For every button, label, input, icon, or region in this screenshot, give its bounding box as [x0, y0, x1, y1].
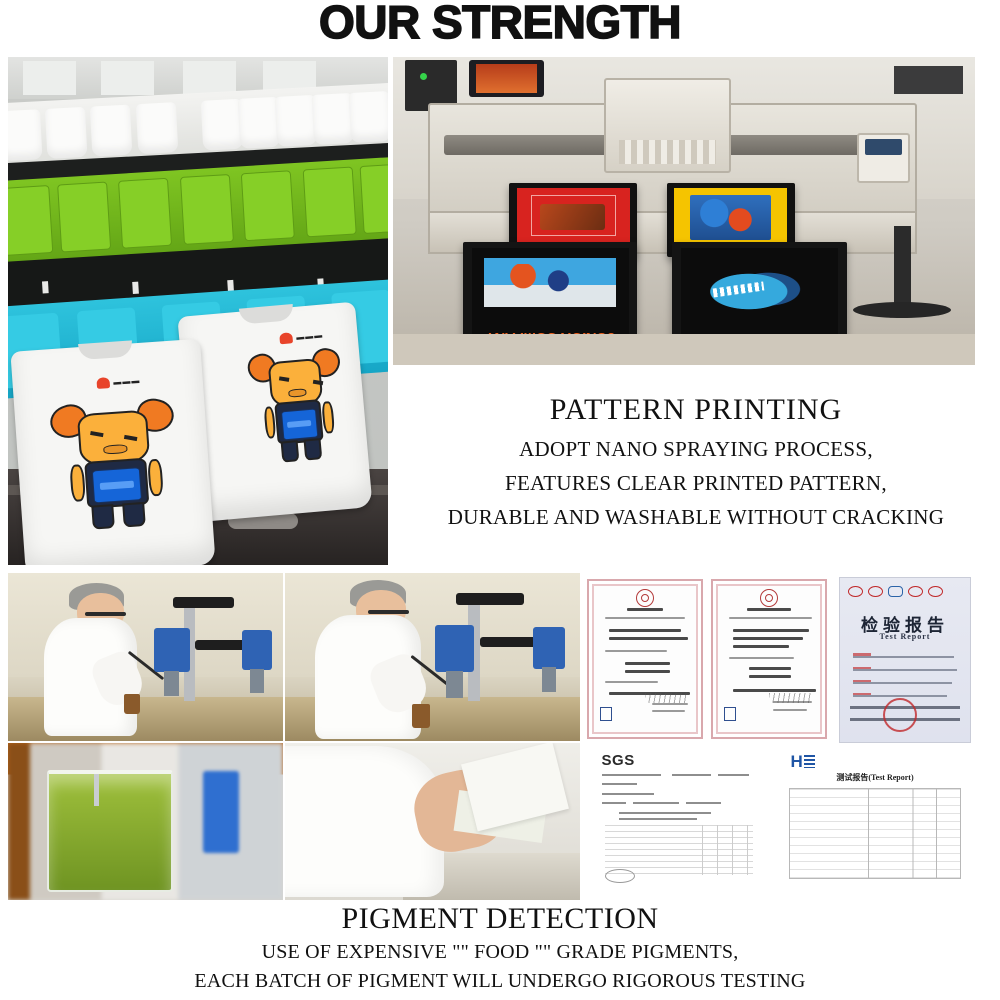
- ccc-logo-icon: [848, 586, 863, 597]
- sample-vial: [412, 704, 430, 728]
- certification-logos: [848, 586, 943, 597]
- lab-mixer: [242, 630, 272, 670]
- pigment-detection-heading: PIGMENT DETECTION: [0, 900, 1000, 938]
- certificate-iso-right: [711, 579, 827, 739]
- printer-room-floor: [393, 334, 975, 365]
- photo-lab-technician-right: [285, 573, 580, 741]
- pigment-detection-text-block: PIGMENT DETECTION USE OF EXPENSIVE "" FO…: [0, 900, 1000, 996]
- cqc-logo-icon: [868, 586, 883, 597]
- mixer-clamp: [173, 597, 234, 609]
- sgs-results-table: [605, 825, 753, 875]
- certificate-iso-left: [587, 579, 703, 739]
- photo-lab-technician-left: [8, 573, 283, 741]
- test-report-title-en: Test Report: [840, 632, 970, 641]
- printed-shirt-front: ▬▬▬: [10, 339, 215, 565]
- certificate-stamp-icon: [600, 707, 612, 721]
- lab-mixer: [533, 627, 565, 669]
- cnas-logo-icon: [928, 586, 943, 597]
- sgs-logo: SGS: [602, 752, 635, 769]
- mixer-clamp: [456, 593, 524, 605]
- h-report-results-table: [789, 788, 962, 879]
- wall-monitor: [469, 60, 545, 97]
- pattern-printing-line-2: FEATURES CLEAR PRINTED PATTERN,: [392, 466, 1000, 500]
- page-title: OUR STRENGTH: [0, 0, 1000, 46]
- pattern-printing-line-3: DURABLE AND WASHABLE WITHOUT CRACKING: [392, 500, 1000, 534]
- printer-stand: [894, 226, 911, 306]
- certificate-sgs-report: SGS: [591, 749, 767, 895]
- pigment-detection-line-2: EACH BATCH OF PIGMENT WILL UNDERGO RIGOR…: [0, 967, 1000, 996]
- photo-certificates-panel: 检验报告 Test Report SGS H: [583, 573, 975, 900]
- certificate-signature: [645, 693, 688, 703]
- certificate-seal-icon: [760, 589, 778, 607]
- photo-conveyor-line: ▬▬▬ ▬▬▬: [8, 57, 388, 565]
- certificate-stamp-icon: [724, 707, 736, 721]
- lab-mixer: [435, 625, 473, 672]
- glasses-icon: [85, 612, 126, 616]
- printer-print-head: [604, 78, 730, 173]
- bull-mark-icon: [279, 332, 293, 344]
- pattern-printing-text-block: PATTERN PRINTING ADOPT NANO SPRAYING PRO…: [392, 388, 1000, 534]
- brand-logo-small: ▬▬▬: [279, 329, 324, 344]
- pattern-printing-line-1: ADOPT NANO SPRAYING PROCESS,: [392, 432, 1000, 466]
- photo-gloved-hand-swatch: [285, 743, 580, 900]
- infographic-page: OUR STRENGTH ▬▬▬: [0, 0, 1000, 1000]
- stirring-rod: [94, 774, 99, 807]
- certificate-seal-icon: [636, 589, 654, 607]
- pattern-printing-heading: PATTERN PRINTING: [392, 388, 1000, 432]
- photo-dtg-printer: JUNIOR COMPANY SHARKS: [393, 57, 975, 365]
- printer-control-panel: [857, 133, 910, 183]
- pigment-detection-line-1: USE OF EXPENSIVE "" FOOD "" GRADE PIGMEN…: [0, 938, 1000, 967]
- photo-pigment-beaker: [8, 743, 283, 900]
- sample-vial: [124, 694, 141, 714]
- bull-mark-icon: [96, 377, 110, 389]
- certificate-test-report: 检验报告 Test Report: [839, 577, 971, 743]
- lab-mixer: [154, 628, 190, 672]
- certificate-h-test-report: H 测试报告(Test Report): [779, 749, 971, 895]
- shark-graphic-icon: [706, 262, 813, 321]
- test-swatch: [461, 743, 569, 832]
- bull-mascot-icon: [56, 395, 175, 533]
- cma-logo-icon: [908, 586, 923, 597]
- h-lab-logo: H: [791, 752, 815, 772]
- brand-logo: ▬▬▬: [96, 375, 141, 389]
- h-report-title: 测试报告(Test Report): [779, 772, 971, 783]
- bull-mascot-icon: [252, 345, 344, 467]
- glasses-icon: [368, 610, 409, 614]
- certificate-signature: [769, 693, 812, 703]
- beaker-glass: [47, 770, 174, 892]
- background-equipment: [203, 771, 239, 853]
- wall-shelf: [894, 66, 964, 94]
- iso-logo-icon: [888, 586, 903, 597]
- official-red-stamp-icon: [883, 698, 917, 732]
- sgs-seal-icon: [605, 869, 635, 883]
